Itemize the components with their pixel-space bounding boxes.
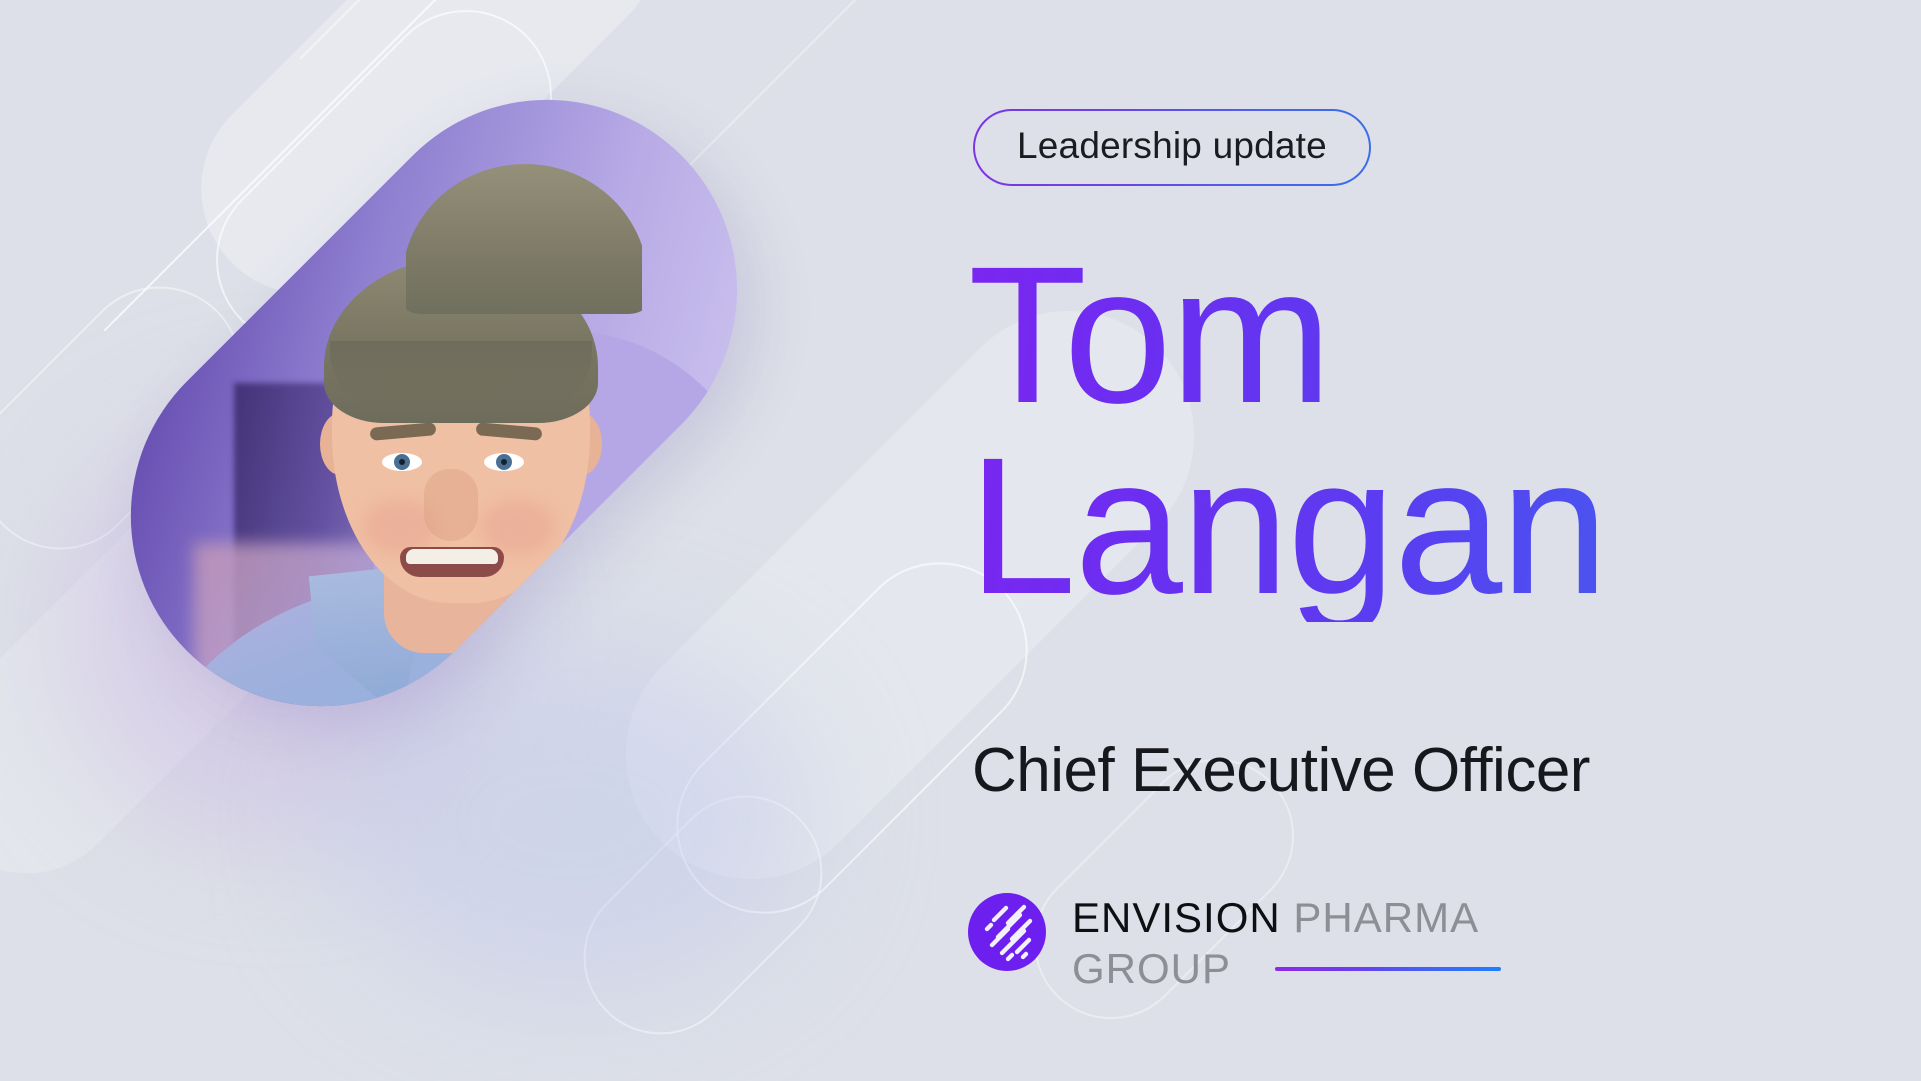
envision-logo-mark-icon	[968, 893, 1046, 971]
person-first-name: Tom	[968, 240, 1868, 431]
person-last-name: Langan	[968, 431, 1868, 622]
person-title: Chief Executive Officer	[972, 735, 1590, 806]
portrait-frame	[104, 78, 764, 728]
portrait-capsule-clip	[52, 21, 816, 785]
nose	[424, 469, 478, 541]
portrait-capsule-content	[84, 213, 784, 593]
decor-diagonal-line-2	[299, 0, 513, 60]
eye-right	[484, 453, 524, 471]
iris-right	[496, 454, 512, 470]
envision-pharma-group-logo: ENVISION PHARMA GROUP	[968, 893, 1501, 990]
content-column: Leadership update Tom Langan Chief Execu…	[968, 0, 1868, 1081]
iris-left	[394, 454, 410, 470]
logo-word-group: GROUP	[1072, 948, 1231, 990]
logo-wordmark: ENVISION PHARMA GROUP	[1072, 893, 1501, 990]
person-name: Tom Langan	[968, 240, 1868, 622]
logo-line-one: ENVISION PHARMA	[1072, 897, 1501, 939]
logo-word-pharma: PHARMA	[1293, 894, 1479, 941]
decor-capsule-outline-4	[552, 764, 855, 1067]
leadership-update-badge-label: Leadership update	[975, 111, 1369, 184]
logo-word-envision: ENVISION	[1072, 894, 1281, 941]
leadership-announcement-card: Leadership update Tom Langan Chief Execu…	[0, 0, 1921, 1081]
portrait-photo	[84, 213, 784, 593]
teeth	[406, 549, 498, 564]
shirt-placket	[454, 683, 473, 785]
mouth	[400, 547, 504, 577]
logo-gradient-rule	[1275, 967, 1501, 971]
eye-left	[382, 453, 422, 471]
logo-line-two: GROUP	[1072, 948, 1501, 990]
hair	[324, 257, 598, 423]
leadership-update-badge: Leadership update	[973, 109, 1371, 186]
